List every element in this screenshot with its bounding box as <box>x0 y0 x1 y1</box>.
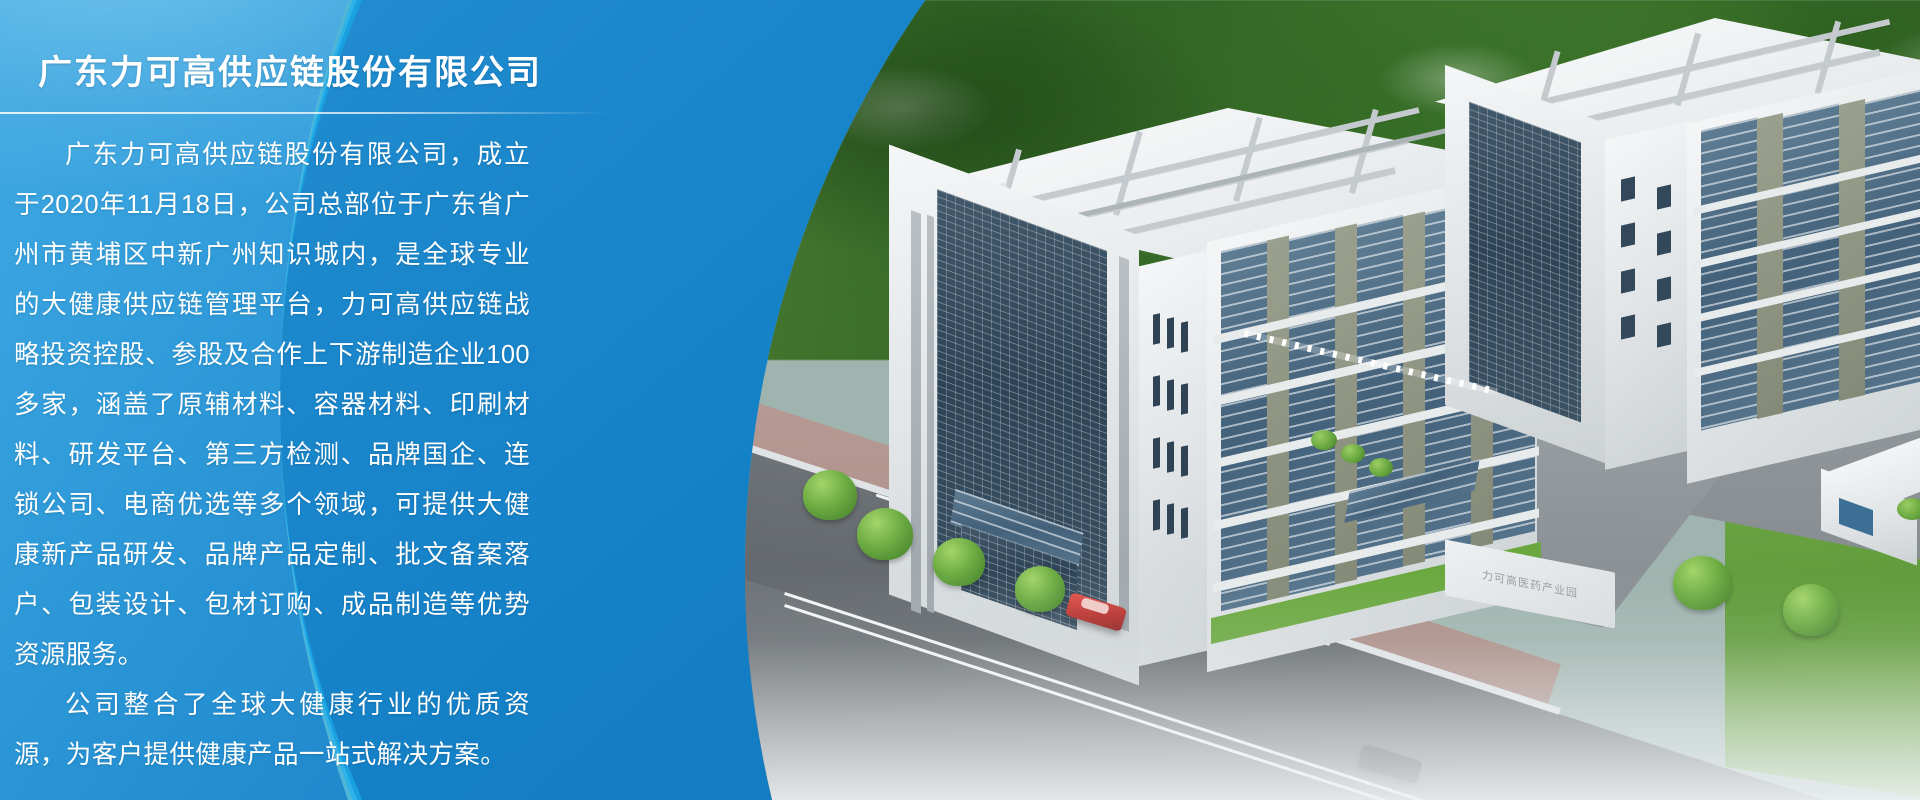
text-panel: 广东力可高供应链股份有限公司 广东力可高供应链股份有限公司，成立于2020年11… <box>0 0 640 800</box>
slot-window <box>1167 503 1174 535</box>
stair-window <box>1657 230 1671 255</box>
guard-house <box>1813 438 1920 558</box>
slot-window <box>1153 375 1160 407</box>
stair-window <box>1657 276 1671 301</box>
facade-pier <box>1267 235 1289 600</box>
slot-window <box>1167 317 1174 349</box>
shrub <box>1897 498 1920 520</box>
street-tree <box>803 470 857 520</box>
facade-mullion <box>927 215 934 614</box>
glazing-bay <box>1783 104 1839 413</box>
slot-window <box>1153 437 1160 469</box>
street-tree <box>857 508 913 560</box>
shrub <box>1369 458 1393 477</box>
glazing-bay <box>1221 241 1267 612</box>
slot-window <box>1167 379 1174 411</box>
slot-window <box>1181 445 1188 477</box>
stair-window <box>1621 176 1635 201</box>
second-building <box>1435 18 1920 488</box>
glazing-bay <box>1357 215 1403 578</box>
facade-pier <box>1839 99 1865 401</box>
shrub <box>1341 444 1365 463</box>
title-divider <box>0 112 608 114</box>
second-building-glazing <box>1469 102 1581 423</box>
facade-mullion <box>911 210 921 614</box>
glazing-bay <box>1865 90 1920 395</box>
banner-stage: 力可高医药产业园 <box>0 0 1920 800</box>
aerial-rendering-photo: 力可高医药产业园 <box>745 0 1920 800</box>
facade-pier <box>1335 223 1357 584</box>
shrub <box>1311 430 1337 450</box>
company-description: 广东力可高供应链股份有限公司，成立于2020年11月18日，公司总部位于广东省广… <box>14 130 530 780</box>
slot-window <box>1181 321 1188 353</box>
photo-circle-mask: 力可高医药产业园 <box>745 0 1920 800</box>
glazing-bay <box>1289 229 1335 596</box>
slot-window <box>1181 507 1188 539</box>
stair-window <box>1657 184 1671 209</box>
stair-window <box>1621 314 1635 339</box>
facade-pier <box>1403 211 1425 566</box>
paragraph-1: 广东力可高供应链股份有限公司，成立于2020年11月18日，公司总部位于广东省广… <box>14 130 530 680</box>
glazing-bay <box>1701 118 1757 431</box>
slot-window <box>1167 441 1174 473</box>
second-building-stair-core <box>1605 120 1691 470</box>
stair-window <box>1621 268 1635 293</box>
paragraph-2: 公司整合了全球大健康行业的优质资源，为客户提供健康产品一站式解决方案。 <box>14 680 530 780</box>
facade-pier <box>1757 113 1783 419</box>
stair-window <box>1621 222 1635 247</box>
page-title: 广东力可高供应链股份有限公司 <box>38 52 598 95</box>
stair-window <box>1657 322 1671 347</box>
slot-window <box>1181 383 1188 415</box>
slot-window <box>1153 499 1160 531</box>
bottom-haze <box>745 570 1920 800</box>
slot-window <box>1153 313 1160 345</box>
